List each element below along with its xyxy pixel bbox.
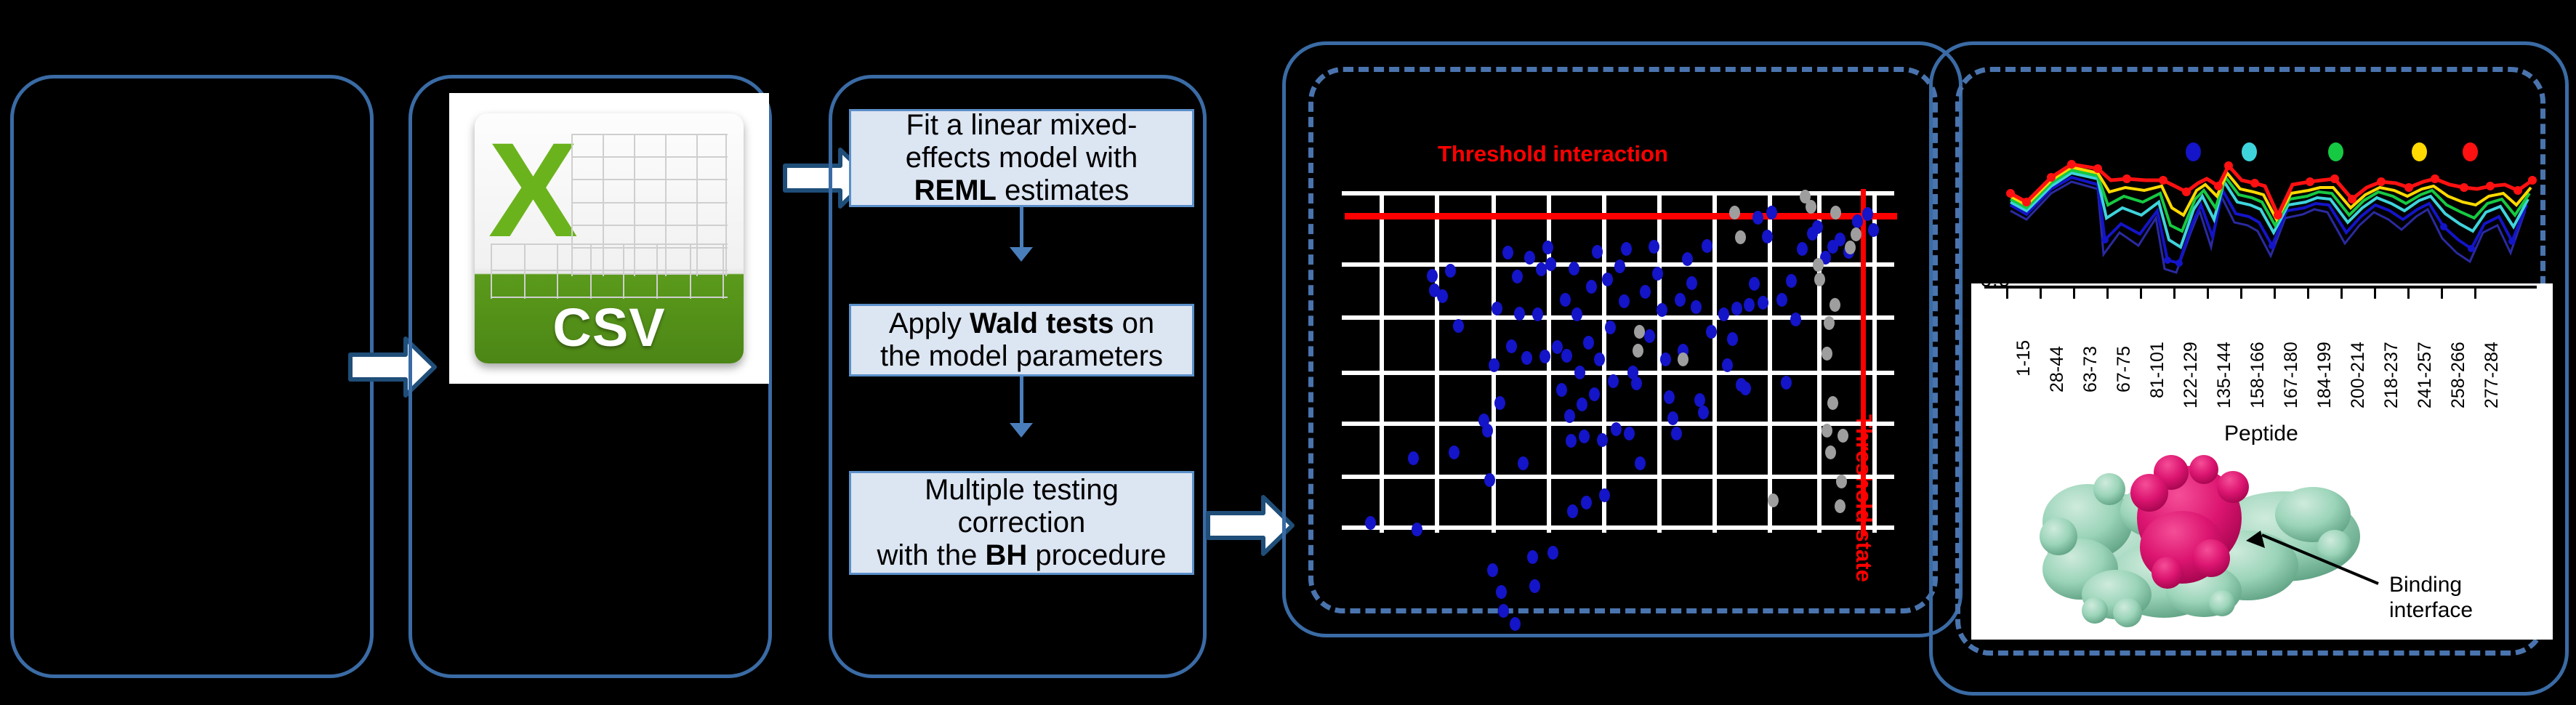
step1-line1: Fit a linear mixed- — [906, 109, 1138, 141]
scatter-point-ns — [1634, 325, 1645, 339]
scatter-point — [1365, 516, 1376, 530]
scatter-point — [1569, 262, 1579, 275]
scatter-point — [1518, 456, 1529, 470]
scatter-point — [1571, 307, 1582, 321]
scatter-point — [1671, 427, 1682, 440]
scatter-point — [1527, 550, 1538, 564]
step3-line1: Multiple testing — [925, 474, 1119, 506]
scatter-point-ns — [1838, 429, 1848, 443]
connector-1-2 — [1020, 207, 1023, 251]
scatter-point — [1644, 329, 1655, 343]
process-step-1: Fit a linear mixed- effects model with R… — [849, 109, 1194, 207]
scatter-point — [1514, 307, 1525, 321]
scatter-point — [1660, 352, 1671, 366]
connector-2-3 — [1020, 376, 1023, 426]
scatter-point — [1453, 319, 1464, 333]
scatter-point — [1574, 366, 1585, 379]
scatter-point-ns — [1825, 446, 1836, 459]
scatter-point — [1649, 240, 1659, 254]
step3-post: procedure — [1027, 539, 1166, 571]
scatter-point — [1577, 398, 1587, 411]
excel-x-glyph: X — [488, 124, 574, 243]
scatter-point — [1579, 430, 1590, 443]
step3-line2: correction — [958, 507, 1086, 539]
scatter-point — [1691, 300, 1702, 314]
scatter-point — [1731, 302, 1742, 315]
process-step-2: Apply Wald tests on the model parameters — [849, 304, 1194, 376]
x-tick-label: 1-15 — [2013, 340, 2034, 376]
x-tick-label: 241-257 — [2415, 342, 2436, 408]
x-tick-label: 28-44 — [2047, 346, 2068, 392]
scatter-point — [1718, 307, 1729, 321]
scatter-point-ns — [1735, 230, 1746, 244]
binding-interface-line1: Binding — [2389, 573, 2473, 598]
scatter-point-ns — [1827, 396, 1838, 410]
csv-label: CSV — [475, 297, 744, 358]
grid-line-v — [1817, 191, 1822, 533]
scatter-point — [1542, 241, 1553, 254]
x-tick-label: 135-144 — [2214, 342, 2235, 408]
scatter-point — [1512, 270, 1523, 283]
scatter-point — [1532, 307, 1543, 321]
scatter-point — [1664, 390, 1675, 404]
step2-post: on — [1114, 307, 1155, 339]
scatter-point-ns — [1824, 316, 1835, 330]
step3-pre: with the — [877, 539, 986, 571]
scatter-point — [1498, 604, 1509, 618]
grid-line-h — [1342, 371, 1894, 375]
scatter-point — [1496, 585, 1507, 599]
scatter-point — [1589, 387, 1600, 401]
scatter-point — [1482, 424, 1493, 438]
scatter-point — [1698, 406, 1709, 419]
threshold-interaction-line — [1345, 213, 1897, 219]
scatter-point — [1852, 214, 1863, 228]
scatter-point — [1597, 433, 1608, 447]
scatter-point — [1812, 220, 1823, 234]
scatter-point — [1797, 242, 1808, 256]
scatter-point — [1686, 276, 1697, 290]
scatter-point-ns — [1678, 352, 1689, 366]
step1-line2: effects model with — [906, 142, 1138, 174]
scatter-point — [1545, 257, 1556, 271]
scatter-point — [1605, 321, 1616, 334]
scatter-point — [1608, 374, 1619, 388]
scatter-point — [1781, 376, 1792, 390]
scatter-point — [1835, 233, 1846, 246]
grid-line-h — [1342, 315, 1894, 320]
scatter-point — [1427, 269, 1438, 283]
scatter-point — [1521, 351, 1532, 365]
scatter-point — [1657, 303, 1667, 317]
scatter-point-ns — [1835, 499, 1846, 513]
scatter-point — [1762, 230, 1773, 243]
step1-rest: estimates — [997, 174, 1129, 206]
scatter-point — [1502, 246, 1513, 259]
binding-interface-line2: interface — [2389, 598, 2473, 624]
scatter-point — [1564, 409, 1575, 423]
scatter-point — [1529, 579, 1540, 593]
scatter-point — [1862, 207, 1873, 221]
scatter-point — [1740, 382, 1751, 395]
scatter-point — [1524, 251, 1535, 265]
step2-pre: Apply — [889, 307, 970, 339]
x-tick-label: 67-75 — [2114, 346, 2135, 392]
binding-interface-label: Binding interface — [2389, 573, 2473, 623]
scatter-point-ns — [1806, 200, 1816, 214]
x-tick-label: 63-73 — [2080, 346, 2101, 392]
x-tick-label: 277-284 — [2482, 342, 2503, 408]
step3-bold: BH — [985, 539, 1027, 571]
scatter-point — [1408, 451, 1419, 465]
scatter-point — [1790, 313, 1801, 326]
scatter-point — [1675, 293, 1686, 307]
scatter-point-ns — [1830, 206, 1841, 219]
scatter-point — [1749, 277, 1760, 291]
empty-panel — [10, 75, 374, 678]
grid-line-v — [1872, 191, 1877, 533]
scatter-point-ns — [1822, 347, 1832, 360]
arrow-3-icon — [1207, 493, 1294, 558]
scatter-point — [1586, 280, 1597, 294]
scatter-point — [1489, 358, 1500, 372]
scatter-point — [1510, 617, 1521, 631]
scatter-point — [1594, 352, 1605, 366]
scatter-point-ns — [1768, 493, 1779, 507]
scatter-point — [1449, 446, 1460, 459]
scatter-point — [1437, 289, 1448, 303]
scatter-point-ns — [1814, 273, 1825, 286]
scatter-point — [1560, 293, 1571, 307]
scatter-point — [1776, 293, 1787, 307]
scatter-point — [1706, 325, 1717, 339]
scatter-point — [1583, 336, 1594, 350]
scatter-point — [1581, 496, 1592, 509]
scatter-point — [1766, 206, 1777, 219]
scatter-point — [1758, 296, 1768, 310]
scatter-point — [1621, 242, 1632, 256]
scatter-point — [1599, 488, 1610, 502]
scatter-point — [1868, 223, 1879, 237]
scatter-point — [1561, 349, 1572, 363]
csv-grid-bottom — [491, 243, 727, 299]
grid-line-v — [1435, 191, 1439, 533]
scatter-point — [1566, 434, 1577, 448]
scatter-point — [1702, 239, 1712, 253]
scatter-point-ns — [1830, 298, 1840, 312]
scatter-point — [1556, 383, 1567, 397]
connector-1-2-arrowhead-icon — [1010, 247, 1033, 262]
grid-line-h — [1342, 525, 1894, 530]
x-tick-label: 122-129 — [2181, 342, 2202, 408]
scatter-point — [1492, 302, 1502, 315]
scatter-point — [1567, 504, 1578, 518]
step1-bold: REML — [914, 174, 997, 206]
scatter-point — [1506, 339, 1517, 353]
step2-line2: the model parameters — [880, 340, 1163, 372]
scatter-point — [1640, 285, 1651, 299]
scatter-point — [1619, 294, 1630, 308]
threshold-interaction-label: Threshold interaction — [1438, 141, 1668, 167]
grid-line-v — [1712, 191, 1717, 533]
scatter-point — [1624, 427, 1635, 440]
scatter-point — [1722, 358, 1733, 372]
x-tick-label: 81-101 — [2147, 342, 2168, 398]
process-step-3: Multiple testing correction with the BH … — [849, 471, 1194, 575]
scatter-point — [1631, 376, 1642, 390]
volcano-scatter-plot: Threshold interaction Threshold state — [1335, 134, 1916, 563]
x-tick-label: 158-166 — [2247, 342, 2269, 408]
threshold-state-line — [1861, 189, 1866, 536]
x-tick-label: 200-214 — [2348, 342, 2369, 408]
scatter-point — [1602, 273, 1613, 286]
scatter-point — [1667, 411, 1678, 425]
scatter-point-ns — [1851, 227, 1861, 241]
scatter-point — [1614, 259, 1625, 273]
x-tick-label: 218-237 — [2381, 342, 2402, 408]
scatter-point — [1682, 252, 1693, 266]
grid-line-h — [1342, 191, 1894, 196]
scatter-point — [1611, 422, 1622, 436]
scatter-point — [1635, 456, 1646, 470]
scatter-point-ns — [1836, 475, 1847, 488]
flowchart-canvas: X — [0, 0, 2576, 687]
csv-icon-card: X — [449, 93, 769, 384]
scatter-point-ns — [1822, 424, 1832, 438]
connector-2-3-arrowhead-icon — [1010, 423, 1033, 438]
scatter-point — [1487, 563, 1498, 577]
scatter-point — [1552, 340, 1563, 354]
peptide-white-panel: 0.0 1-15 28-44 63-73 67-75 81-101 122-12… — [1971, 283, 2553, 640]
scatter-point — [1752, 211, 1763, 225]
step2-bold: Wald tests — [970, 307, 1114, 339]
x-tick-label: 184-199 — [2314, 342, 2335, 408]
scatter-point — [1786, 274, 1797, 288]
grid-line-h — [1342, 475, 1894, 479]
scatter-point — [1652, 267, 1663, 281]
scatter-point — [1484, 473, 1495, 487]
scatter-point-ns — [1633, 344, 1643, 358]
x-tick-label: 258-266 — [2448, 342, 2469, 408]
x-tick-label: 167-180 — [2281, 342, 2302, 408]
csv-file-icon: X — [475, 113, 744, 363]
grid-line-v — [1380, 191, 1384, 533]
scatter-point-ns — [1845, 241, 1856, 254]
scatter-point — [1744, 298, 1755, 312]
scatter-point — [1412, 523, 1422, 536]
scatter-point — [1592, 245, 1603, 259]
scatter-point-ns — [1813, 258, 1824, 272]
scatter-point — [1494, 396, 1505, 410]
scatter-point — [1445, 264, 1456, 278]
scatter-point — [1727, 332, 1738, 346]
scatter-point-ns — [1729, 206, 1740, 219]
scatter-point — [1539, 350, 1550, 363]
scatter-point — [1547, 546, 1558, 560]
